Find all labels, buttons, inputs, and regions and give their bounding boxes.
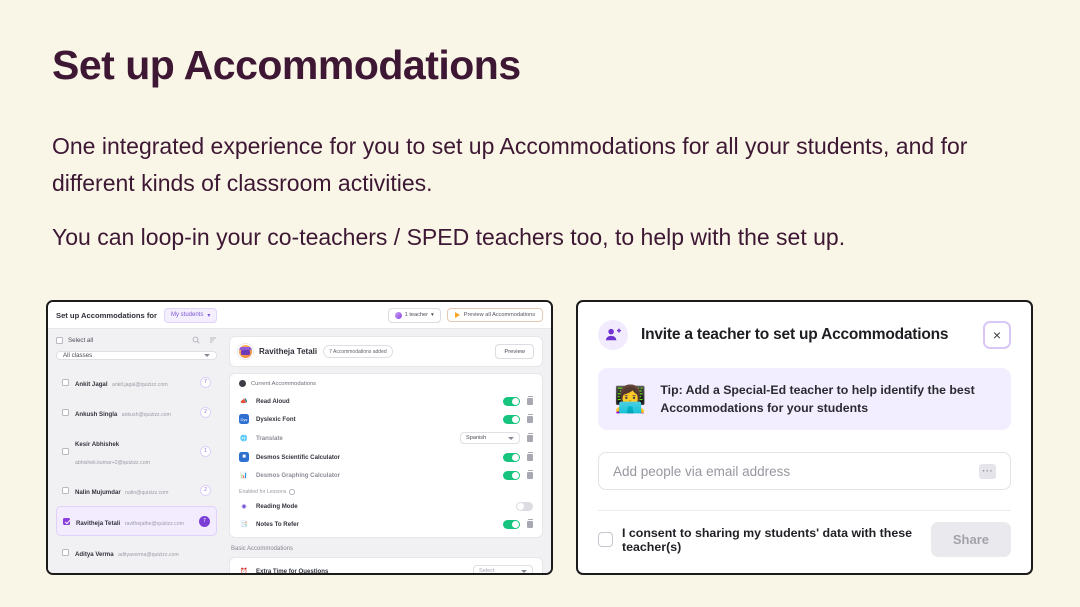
current-accommodations-section: Current Accommodations 📣 Read Aloud Dys … (229, 373, 543, 538)
app-topbar: Set up Accommodations for My students ▾ … (48, 302, 551, 329)
student-name: Nalin Mujumdar (75, 489, 121, 496)
class-filter-label: All classes (63, 352, 92, 359)
divider (598, 510, 1011, 511)
student-checkbox[interactable] (62, 379, 69, 386)
teacher-count-dropdown[interactable]: 1 teacher ▾ (388, 308, 441, 323)
list-item[interactable]: Ankush Singla ankush@quizizz.com 2 (56, 398, 217, 426)
email-input-wrapper[interactable]: ⋯ (598, 452, 1011, 490)
accommodation-row: 📊 Desmos Graphing Calculator (230, 466, 542, 484)
accommodation-label: Translate (256, 435, 283, 442)
info-icon[interactable] (289, 489, 295, 495)
invite-teacher-modal: Invite a teacher to set up Accommodation… (578, 302, 1031, 573)
paragraph-1: One integrated experience for you to set… (52, 128, 1002, 202)
extra-time-select-value: Select (479, 568, 495, 573)
preview-button[interactable]: Preview (495, 344, 534, 359)
person-add-icon (598, 320, 628, 350)
list-item[interactable]: Kesir Abhishek abhishek.kumar+2@quizizz.… (56, 428, 217, 474)
basic-accommodations-title: Basic Accommodations (229, 544, 543, 557)
clock-icon: ⏰ (239, 566, 249, 573)
lessons-subsection-header: Enabled for Lessons (230, 484, 542, 497)
tip-banner: 👩‍💻 Tip: Add a Special-Ed teacher to hel… (598, 368, 1011, 430)
accommodation-count-badge: 2 (200, 485, 211, 496)
consent-checkbox[interactable] (598, 532, 613, 547)
student-name: Ankush Singla (75, 411, 117, 418)
accommodation-row: 📣 Read Aloud (230, 392, 542, 410)
delete-icon[interactable] (527, 521, 533, 528)
preview-all-label: Preview all Accommodations (464, 312, 535, 318)
accommodation-toggle[interactable] (503, 397, 520, 406)
glasses-icon: ◉ (239, 501, 249, 511)
accommodation-count-badge: 2 (200, 407, 211, 418)
teacher-avatar-icon (395, 312, 402, 319)
delete-icon[interactable] (527, 416, 533, 423)
delete-icon[interactable] (527, 454, 533, 461)
globe-icon (239, 380, 246, 387)
student-checkbox[interactable] (62, 549, 69, 556)
delete-icon[interactable] (527, 472, 533, 479)
slide-description: One integrated experience for you to set… (52, 128, 1002, 256)
list-item[interactable]: Aditya Verma adityaverma@quizizz.com (56, 538, 217, 566)
student-checkbox[interactable] (62, 409, 69, 416)
teacher-illustration-icon: 👩‍💻 (614, 386, 646, 412)
students-panel: Select all All classes (48, 329, 225, 573)
invite-teacher-modal-screenshot: Invite a teacher to set up Accommodation… (576, 300, 1033, 575)
accommodation-row: ■ Desmos Scientific Calculator (230, 448, 542, 466)
megaphone-icon: 📣 (239, 396, 249, 406)
delete-icon[interactable] (527, 435, 533, 442)
close-icon[interactable]: × (983, 321, 1011, 349)
chevron-down-icon (521, 570, 527, 573)
extra-time-select[interactable]: Select (473, 565, 533, 573)
audience-select-label: My students (171, 312, 203, 318)
share-button[interactable]: Share (931, 522, 1011, 557)
status-badge: 7 Accommodations added (323, 345, 393, 358)
accommodation-toggle[interactable] (503, 520, 520, 529)
student-email: ankush@quizizz.com (122, 412, 171, 418)
accommodation-label: Notes To Refer (256, 521, 299, 528)
calculator-icon: ■ (239, 452, 249, 462)
list-item[interactable]: Ankit Jagal ankit.jagal@quizizz.com 7 (56, 368, 217, 396)
teacher-count-label: 1 teacher (405, 312, 428, 318)
bar-chart-icon: 📊 (239, 470, 249, 480)
accommodation-label: Extra Time for Questions (256, 568, 328, 574)
accommodation-toggle[interactable] (503, 453, 520, 462)
filter-icon[interactable] (209, 336, 217, 344)
select-all-checkbox[interactable] (56, 337, 63, 344)
accommodation-label: Read Aloud (256, 398, 290, 405)
accommodation-label: Reading Mode (256, 503, 298, 510)
class-filter-select[interactable]: All classes (56, 351, 217, 360)
lessons-subsection-title: Enabled for Lessons (239, 489, 286, 495)
accommodation-count-badge: 1 (200, 446, 211, 457)
student-email: ravithejathe@quizizz.com (125, 521, 184, 527)
chevron-down-icon: ▾ (431, 312, 434, 318)
student-email: nalin@quizizz.com (125, 490, 168, 496)
section-title: Current Accommodations (251, 381, 316, 387)
more-options-icon[interactable]: ⋯ (979, 464, 996, 479)
chevron-down-icon: ▾ (207, 312, 210, 319)
accommodation-label: Desmos Graphing Calculator (256, 472, 340, 479)
accommodation-row: 🌐 Translate Spanish (230, 428, 542, 448)
accommodations-app-screenshot: Set up Accommodations for My students ▾ … (46, 300, 553, 575)
chevron-down-icon (204, 354, 210, 357)
email-field[interactable] (613, 464, 979, 479)
language-select-value: Spanish (466, 435, 486, 441)
delete-icon[interactable] (527, 398, 533, 405)
accommodation-count-badge: 7 (200, 377, 211, 388)
translate-icon: 🌐 (239, 433, 249, 443)
accommodation-row: ◉ Reading Mode (230, 497, 542, 515)
preview-all-accommodations-button[interactable]: Preview all Accommodations (447, 308, 543, 322)
avatar (238, 344, 253, 359)
chevron-down-icon (508, 437, 514, 440)
student-name: Kesir Abhishek (75, 441, 119, 448)
student-checkbox[interactable] (63, 518, 70, 525)
student-detail-header: Ravitheja Tetali 7 Accommodations added … (229, 336, 543, 367)
select-all-label: Select all (68, 337, 93, 344)
language-select[interactable]: Spanish (460, 432, 520, 444)
paragraph-2: You can loop-in your co-teachers / SPED … (52, 219, 1002, 256)
detail-student-name: Ravitheja Tetali (259, 347, 317, 356)
accommodation-toggle[interactable] (516, 502, 533, 511)
accommodation-label: Dyslexic Font (256, 416, 296, 423)
list-item[interactable]: Nalin Mujumdar nalin@quizizz.com 2 (56, 476, 217, 504)
basic-accommodations-section: ⏰ Extra Time for Questions Select (229, 557, 543, 573)
play-icon (455, 312, 460, 318)
app-topbar-title: Set up Accommodations for (56, 311, 157, 320)
list-item-selected[interactable]: Ravitheja Tetali ravithejathe@quizizz.co… (56, 506, 217, 536)
list-item[interactable]: Ankush Singla Email address not availabl… (56, 568, 217, 575)
student-detail-panel: Ravitheja Tetali 7 Accommodations added … (225, 329, 551, 573)
accommodation-label: Desmos Scientific Calculator (256, 454, 340, 461)
modal-title: Invite a teacher to set up Accommodation… (641, 326, 948, 344)
font-icon: Dys (239, 414, 249, 424)
student-email: abhishek.kumar+2@quizizz.com (75, 460, 150, 466)
student-checkbox[interactable] (62, 448, 69, 455)
accommodation-row: Dys Dyslexic Font (230, 410, 542, 428)
student-email: adityaverma@quizizz.com (118, 552, 179, 558)
page-title: Set up Accommodations (52, 42, 521, 89)
consent-label: I consent to sharing my students' data w… (622, 526, 921, 554)
accommodation-row: 📑 Notes To Refer (230, 515, 542, 533)
student-name: Ankit Jagal (75, 381, 108, 388)
student-name: Aditya Verma (75, 551, 114, 558)
student-checkbox[interactable] (62, 487, 69, 494)
accommodation-row: ⏰ Extra Time for Questions Select (230, 561, 542, 573)
student-name: Ravitheja Tetali (76, 520, 120, 527)
accommodation-count-badge: 7 (199, 516, 210, 527)
student-email: ankit.jagal@quizizz.com (112, 382, 168, 388)
accommodation-toggle[interactable] (503, 415, 520, 424)
accommodation-toggle[interactable] (503, 471, 520, 480)
search-icon[interactable] (192, 336, 200, 344)
audience-select[interactable]: My students ▾ (164, 308, 217, 323)
notes-icon: 📑 (239, 519, 249, 529)
tip-text: Tip: Add a Special-Ed teacher to help id… (660, 381, 995, 417)
consent-row[interactable]: I consent to sharing my students' data w… (598, 526, 921, 554)
